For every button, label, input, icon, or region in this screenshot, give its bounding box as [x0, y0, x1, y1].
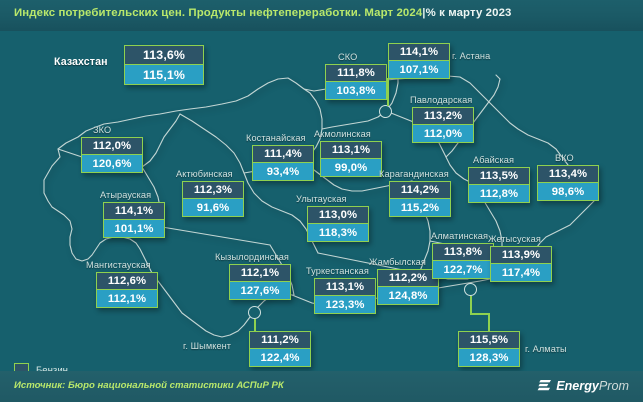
petrol-value-shymkent: 111,2%	[250, 332, 310, 349]
page-title: Индекс потребительских цен. Продукты неф…	[14, 7, 511, 19]
petrol-value-abay: 113,5%	[469, 168, 529, 185]
diesel-value-sko: 103,8%	[326, 82, 386, 99]
diesel-value-karaganda: 115,2%	[390, 199, 450, 216]
value-box-almaty-region: 113,8% 122,7%	[432, 243, 494, 279]
energyprom-logo-icon	[537, 378, 552, 393]
diesel-value-akmola: 99,0%	[321, 159, 381, 176]
region-label-vko: ВКО	[555, 153, 574, 163]
value-box-kyzylorda: 112,1% 127,6%	[229, 264, 291, 300]
energyprom-logo: EnergyProm	[537, 378, 629, 393]
petrol-value-zko: 112,0%	[82, 138, 142, 155]
diesel-value-zhetysu: 117,4%	[491, 264, 551, 281]
region-label-pavlodar: Павлодарская	[410, 95, 472, 105]
footer-bar: Источник: Бюро национальной статистики А…	[0, 371, 643, 402]
page-title-subtitle: % к марту 2023	[426, 7, 512, 19]
petrol-value-kyzylorda: 112,1%	[230, 265, 290, 282]
petrol-value-kazakhstan: 113,6%	[125, 46, 203, 65]
leader-line-almaty-v2	[488, 313, 490, 331]
region-label-ulytau: Улытауская	[296, 194, 347, 204]
petrol-value-atyrau: 114,1%	[104, 203, 164, 220]
region-label-zko: ЗКО	[93, 125, 111, 135]
diesel-value-ulytau: 118,3%	[308, 224, 368, 241]
region-label-zhetysu: Жетысуская	[488, 234, 541, 244]
diesel-value-pavlodar: 112,0%	[413, 125, 473, 142]
petrol-value-sko: 111,8%	[326, 65, 386, 82]
region-label-kazakhstan: Казахстан	[54, 56, 108, 68]
page-title-main: Индекс потребительских цен. Продукты неф…	[14, 7, 422, 19]
value-box-sko: 111,8% 103,8%	[325, 64, 387, 100]
region-label-almaty-region: Алматинская	[431, 231, 488, 241]
diesel-value-kyzylorda: 127,6%	[230, 282, 290, 299]
region-label-akmola: Акмолинская	[314, 129, 371, 139]
value-box-abay: 113,5% 112,8%	[468, 167, 530, 203]
leader-line-almaty-h	[470, 313, 489, 315]
value-box-zhambyl: 112,2% 124,8%	[377, 269, 439, 305]
value-box-akmola: 113,1% 99,0%	[320, 141, 382, 177]
value-box-mangystau: 112,6% 112,1%	[96, 272, 158, 308]
petrol-value-kostanay: 111,4%	[253, 146, 313, 163]
diesel-value-aktobe: 91,6%	[183, 199, 243, 216]
value-box-pavlodar: 113,2% 112,0%	[412, 107, 474, 143]
value-box-kostanay: 111,4% 93,4%	[252, 145, 314, 181]
petrol-value-almaty-region: 113,8%	[433, 244, 493, 261]
diesel-value-shymkent: 122,4%	[250, 349, 310, 366]
diesel-value-astana: 107,1%	[389, 61, 449, 78]
infographic-map-page: Индекс потребительских цен. Продукты неф…	[0, 0, 643, 402]
map-canvas: Казахстан 113,6% 115,1% ЗКО 112,0% 120,6…	[0, 31, 643, 371]
city-dot-shymkent	[248, 306, 261, 319]
value-box-shymkent: 111,2% 122,4%	[249, 331, 311, 367]
region-label-almaty-city: г. Алматы	[525, 344, 567, 354]
city-dot-astana	[379, 105, 392, 118]
diesel-value-vko: 98,6%	[538, 183, 598, 200]
leader-line-shymkent-v	[254, 319, 256, 331]
diesel-value-almaty-region: 122,7%	[433, 261, 493, 278]
leader-line-astana	[387, 78, 389, 106]
diesel-value-almaty-city: 128,3%	[459, 349, 519, 366]
logo-text-prom: Prom	[599, 379, 629, 393]
region-label-shymkent: г. Шымкент	[183, 341, 231, 351]
region-label-atyrau: Атырауская	[100, 190, 151, 200]
value-box-almaty-city: 115,5% 128,3%	[458, 331, 520, 367]
diesel-value-kazakhstan: 115,1%	[125, 65, 203, 84]
petrol-value-almaty-city: 115,5%	[459, 332, 519, 349]
value-box-zhetysu: 113,9% 117,4%	[490, 246, 552, 282]
energyprom-logo-text: EnergyProm	[556, 379, 629, 393]
petrol-value-zhambyl: 112,2%	[378, 270, 438, 287]
region-label-astana: г. Астана	[452, 51, 490, 61]
value-box-atyrau: 114,1% 101,1%	[103, 202, 165, 238]
region-label-mangystau: Мангистауская	[86, 260, 151, 270]
header-bar: Индекс потребительских цен. Продукты неф…	[0, 0, 643, 31]
diesel-value-zko: 120,6%	[82, 155, 142, 172]
petrol-value-vko: 113,4%	[538, 166, 598, 183]
value-box-karaganda: 114,2% 115,2%	[389, 181, 451, 217]
value-box-aktobe: 112,3% 91,6%	[182, 181, 244, 217]
petrol-value-turkestan: 113,1%	[315, 279, 375, 296]
diesel-value-abay: 112,8%	[469, 185, 529, 202]
source-note: Источник: Бюро национальной статистики А…	[14, 380, 284, 391]
petrol-value-zhetysu: 113,9%	[491, 247, 551, 264]
value-box-vko: 113,4% 98,6%	[537, 165, 599, 201]
petrol-value-karaganda: 114,2%	[390, 182, 450, 199]
region-label-sko: СКО	[338, 52, 357, 62]
value-box-turkestan: 113,1% 123,3%	[314, 278, 376, 314]
petrol-value-mangystau: 112,6%	[97, 273, 157, 290]
logo-text-energy: Energy	[556, 379, 599, 393]
petrol-value-aktobe: 112,3%	[183, 182, 243, 199]
value-box-astana: 114,1% 107,1%	[388, 43, 450, 79]
value-box-ulytau: 113,0% 118,3%	[307, 206, 369, 242]
petrol-value-ulytau: 113,0%	[308, 207, 368, 224]
diesel-value-turkestan: 123,3%	[315, 296, 375, 313]
diesel-value-mangystau: 112,1%	[97, 290, 157, 307]
region-label-abay: Абайская	[473, 155, 514, 165]
city-dot-almaty	[464, 283, 477, 296]
diesel-value-zhambyl: 124,8%	[378, 287, 438, 304]
value-box-zko: 112,0% 120,6%	[81, 137, 143, 173]
region-label-kyzylorda: Кызылординская	[215, 252, 289, 262]
value-box-kazakhstan: 113,6% 115,1%	[124, 45, 204, 85]
region-label-kostanay: Костанайская	[246, 133, 306, 143]
diesel-value-atyrau: 101,1%	[104, 220, 164, 237]
region-label-karaganda: Карагандинская	[379, 169, 449, 179]
petrol-value-akmola: 113,1%	[321, 142, 381, 159]
region-label-zhambyl: Жамбылская	[369, 257, 426, 267]
region-label-turkestan: Туркестанская	[306, 266, 369, 276]
diesel-value-kostanay: 93,4%	[253, 163, 313, 180]
petrol-value-astana: 114,1%	[389, 44, 449, 61]
petrol-value-pavlodar: 113,2%	[413, 108, 473, 125]
region-label-aktobe: Актюбинская	[176, 169, 233, 179]
leader-line-almaty-v1	[470, 296, 472, 313]
